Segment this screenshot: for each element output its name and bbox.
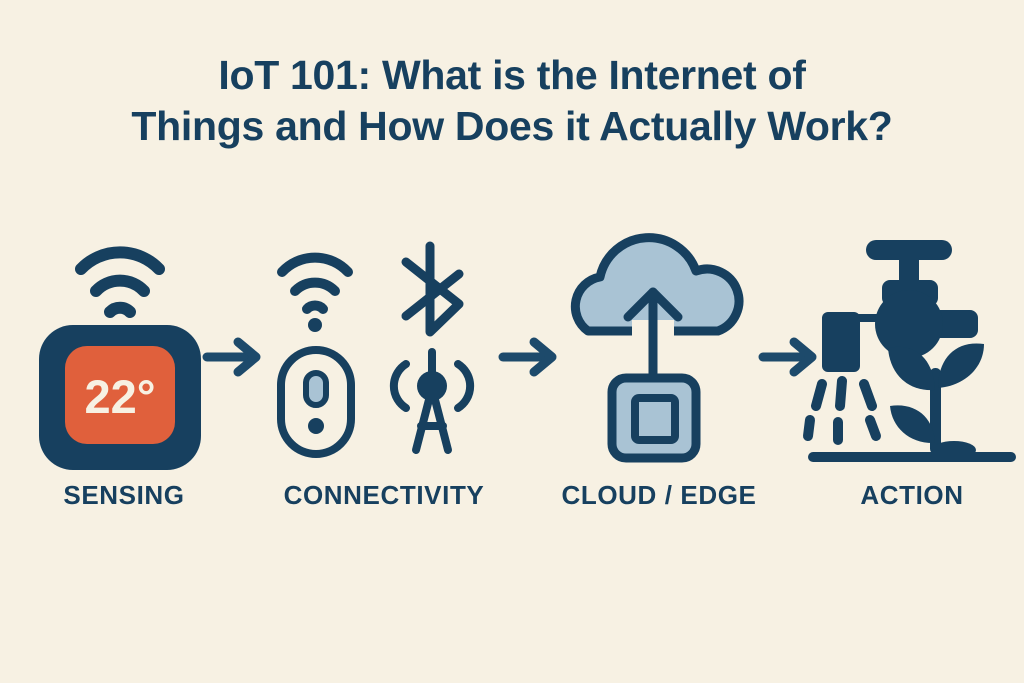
stage-label-action: ACTION: [808, 480, 1016, 511]
page-title: IoT 101: What is the Internet of Things …: [0, 50, 1024, 152]
edge-chip-icon: [612, 378, 696, 458]
sensing-artwork: 22°: [18, 228, 230, 463]
pipeline-stage-action: ACTION: [808, 228, 1016, 528]
connectivity-artwork: [258, 228, 510, 463]
water-spray-icon: [808, 381, 876, 440]
page-title-line-1: IoT 101: What is the Internet of: [0, 50, 1024, 101]
stage-label-cloud-edge: CLOUD / EDGE: [540, 480, 778, 511]
pipeline-stage-cloud-edge: CLOUD / EDGE: [540, 228, 778, 528]
action-artwork: [808, 228, 1016, 463]
arrow-right-icon-1: [204, 335, 266, 379]
stage-label-sensing: SENSING: [18, 480, 230, 511]
cloud-upload-icon: [575, 238, 739, 376]
sensor-temperature-reading: 22°: [84, 370, 155, 423]
stage-label-connectivity: CONNECTIVITY: [258, 480, 510, 511]
wifi-dot-icon: [308, 318, 322, 332]
pipeline-stage-sensing: 22° SENSING: [18, 228, 230, 528]
page-title-line-2: Things and How Does it Actually Work?: [0, 101, 1024, 152]
ground-line: [808, 452, 1016, 462]
gateway-device-icon: [281, 350, 351, 454]
arrow-right-icon-2: [500, 335, 562, 379]
gateway-dot-icon: [308, 418, 324, 434]
gateway-indicator-icon: [306, 373, 326, 405]
cloud-edge-artwork: [540, 228, 778, 463]
infographic-canvas: IoT 101: What is the Internet of Things …: [0, 0, 1024, 683]
pipeline-stage-connectivity: CONNECTIVITY: [258, 228, 510, 528]
cell-tower-hub-icon: [417, 371, 447, 401]
plant-sprout-icon: [888, 343, 984, 459]
wifi-signal-icon: [81, 252, 159, 312]
bluetooth-icon: [406, 246, 459, 332]
wifi-signal-icon: [282, 258, 348, 309]
arrow-right-icon-3: [760, 335, 822, 379]
